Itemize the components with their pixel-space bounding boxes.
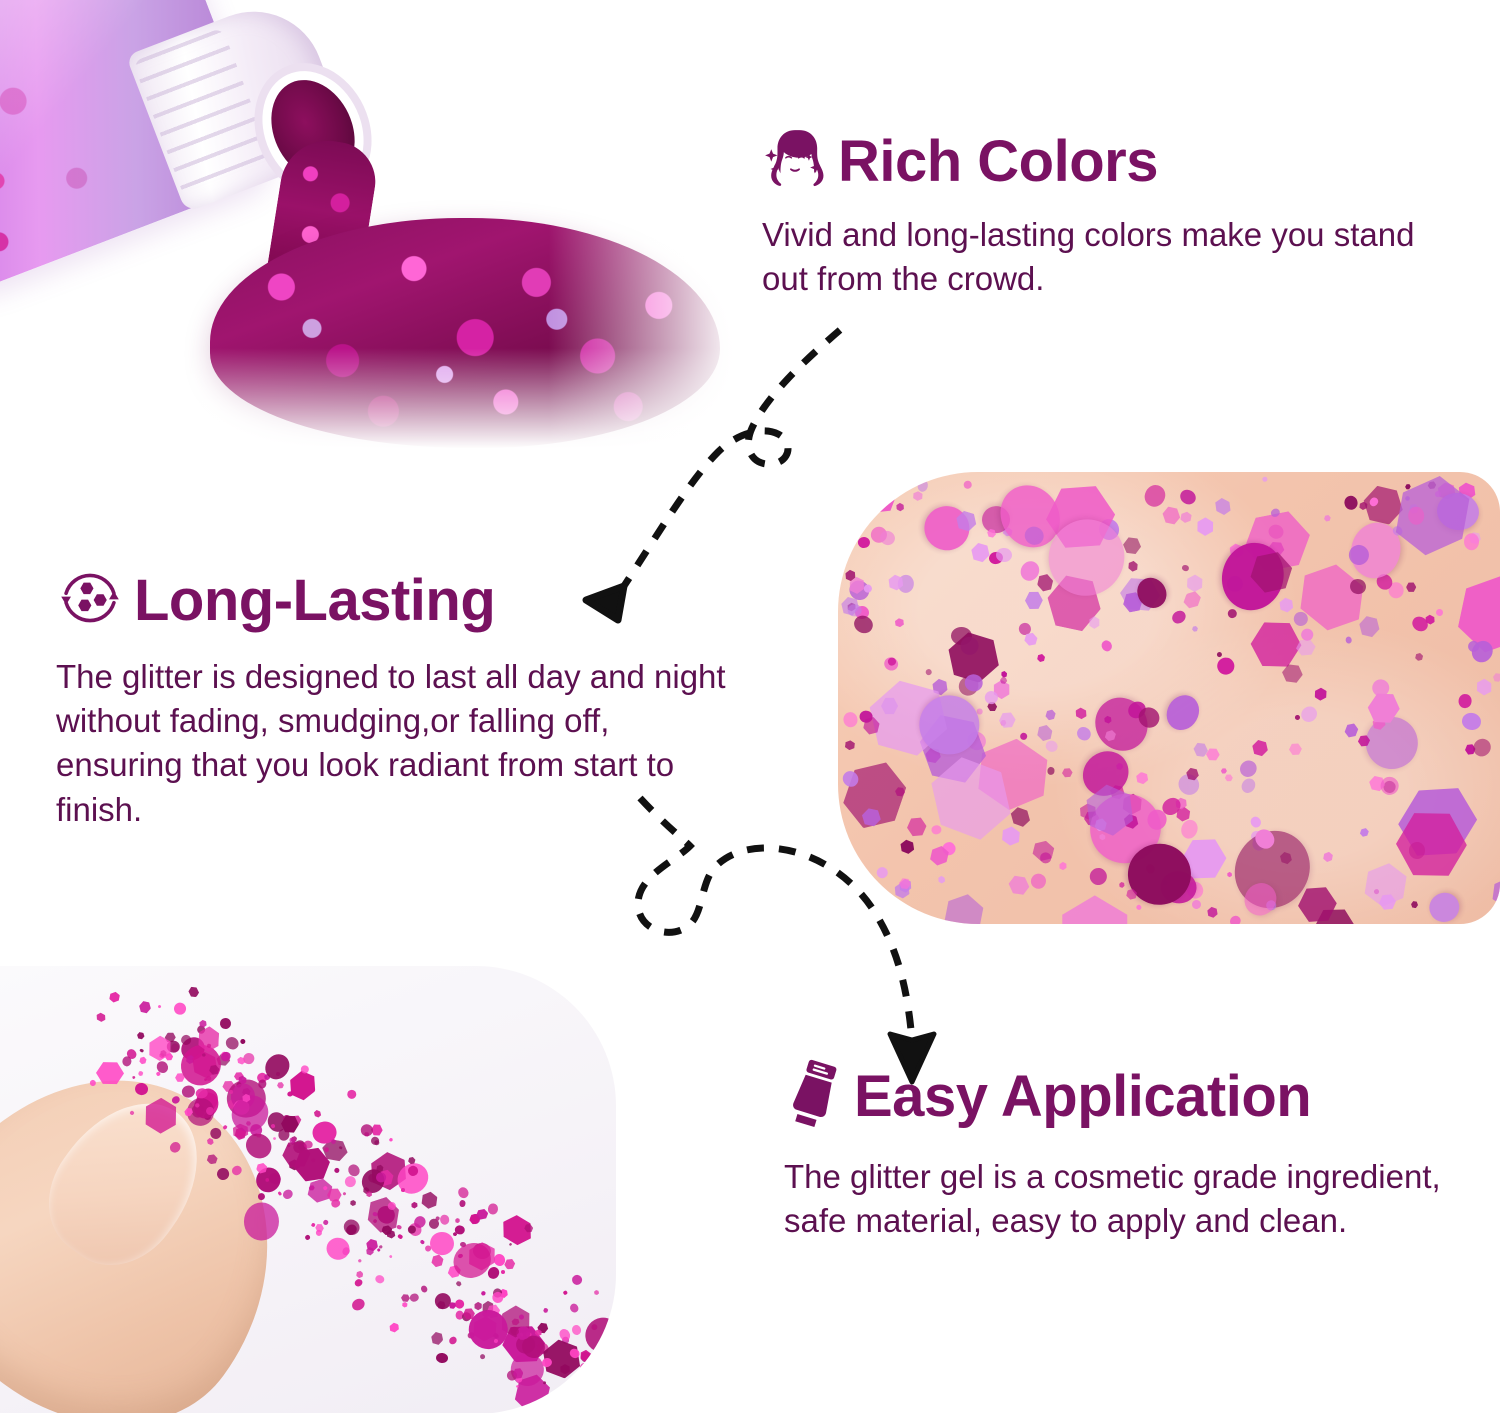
- glitter-flake: [488, 1203, 499, 1214]
- feature-rich-colors: Rich Colors Vivid and long-lasting color…: [762, 126, 1462, 301]
- glitter-flake: [1135, 771, 1149, 785]
- glitter-flake: [1239, 775, 1259, 795]
- glitter-flake: [912, 491, 923, 501]
- glitter-flake: [916, 479, 929, 493]
- glitter-flake: [402, 1302, 408, 1308]
- glitter-flake: [429, 1230, 456, 1256]
- glitter-flake: [1075, 724, 1094, 743]
- glitter-flake: [977, 709, 983, 715]
- glitter-flake: [313, 1109, 323, 1119]
- glitter-flake: [1180, 587, 1204, 611]
- glitter-flake: [584, 1392, 596, 1403]
- glitter-flake: [542, 1307, 548, 1314]
- glitter-flake: [304, 1234, 311, 1241]
- glitter-flake: [360, 1124, 373, 1137]
- glitter-flake: [1160, 504, 1182, 527]
- glitter-flake: [158, 1005, 162, 1009]
- glitter-flake: [311, 1222, 317, 1228]
- glitter-flake: [222, 1124, 228, 1130]
- feature-body-text: The glitter is designed to last all day …: [56, 655, 736, 832]
- glitter-flake: [1191, 899, 1201, 910]
- glitter-flake: [439, 1214, 450, 1225]
- glitter-flake: [300, 1064, 310, 1074]
- woman-face-sparkle-icon: [762, 126, 828, 197]
- glitter-flake: [134, 1082, 149, 1096]
- glitter-flake: [1100, 639, 1114, 654]
- glitter-flake: [229, 1090, 233, 1094]
- glitter-flake: [1458, 694, 1472, 710]
- glitter-flake: [1460, 712, 1483, 733]
- glitter-flake: [89, 1079, 97, 1087]
- feature-title: Rich Colors: [838, 133, 1158, 191]
- glitter-flake: [1019, 732, 1027, 740]
- glitter-flake: [1470, 735, 1495, 760]
- glitter-flake: [136, 1031, 145, 1040]
- glitter-flake: [894, 501, 905, 512]
- glitter-flake: [1126, 560, 1139, 574]
- glitter-flake: [436, 1352, 449, 1364]
- glitter-flake: [223, 1035, 241, 1053]
- glitter-flake: [509, 1242, 513, 1246]
- glitter-flake: [387, 1321, 401, 1335]
- glitter-flake: [1062, 767, 1073, 777]
- glitter-flake: [138, 1070, 144, 1077]
- feature-easy-application: Easy Application The glitter gel is a co…: [784, 1058, 1474, 1243]
- glitter-flake: [1261, 476, 1268, 483]
- infographic-page: Rich Colors Vivid and long-lasting color…: [0, 0, 1500, 1413]
- feature-body-text: The glitter gel is a cosmetic grade ingr…: [784, 1155, 1454, 1243]
- glitter-flake: [1359, 827, 1371, 839]
- glitter-flake: [215, 1166, 231, 1182]
- glitter-flake: [410, 1201, 419, 1210]
- cosmetic-tube-icon: [784, 1058, 844, 1135]
- glitter-flake: [350, 1199, 357, 1206]
- glitter-flake: [129, 1110, 135, 1116]
- glitter-flake: [1321, 849, 1335, 863]
- glitter-flake: [1226, 608, 1237, 619]
- glitter-flake: [1025, 591, 1043, 610]
- glitter-flake: [1492, 672, 1500, 682]
- glitter-flake: [140, 1049, 145, 1054]
- glitter-flake: [844, 740, 855, 751]
- glitter-flake: [357, 1259, 362, 1264]
- glitter-flake: [1425, 888, 1465, 924]
- glitter-flake: [1086, 864, 1109, 887]
- glitter-flake: [407, 1225, 416, 1234]
- glitter-flake: [1228, 914, 1243, 924]
- glitter-flake: [998, 822, 1025, 848]
- glitter-flake: [1357, 857, 1415, 913]
- glitter-flake: [1044, 739, 1059, 754]
- glitter-flake: [925, 669, 932, 677]
- glitter-flake: [96, 1061, 124, 1086]
- glitter-flake: [1161, 689, 1206, 736]
- glitter-flake: [1058, 895, 1130, 924]
- glitter-flake: [330, 1198, 341, 1208]
- glitter-flake: [374, 1274, 385, 1285]
- glitter-flake: [1206, 906, 1220, 920]
- glitter-flake: [420, 1239, 426, 1245]
- glitter-flake: [1216, 651, 1223, 658]
- glitter-flake: [448, 1335, 459, 1346]
- glitter-flake: [171, 1095, 181, 1105]
- glitter-flake: [108, 991, 122, 1004]
- feature-heading-row: Easy Application: [784, 1058, 1474, 1135]
- glitter-flake: [570, 1273, 584, 1287]
- glitter-flake: [1249, 816, 1263, 830]
- glitter-flake: [420, 1285, 429, 1294]
- photo-finger-smear: [0, 966, 616, 1413]
- glitter-flake: [1177, 487, 1198, 507]
- feature-body-text: Vivid and long-lasting colors make you s…: [762, 213, 1452, 301]
- glitter-flake: [323, 1219, 330, 1226]
- glitter-flake: [273, 1137, 276, 1140]
- glitter-flake: [181, 1085, 196, 1099]
- glitter-flake: [418, 1189, 440, 1211]
- glitter-flake: [239, 1038, 246, 1045]
- glitter-flake: [276, 1080, 285, 1090]
- glitter-flake: [1226, 871, 1233, 878]
- glitter-flake: [1357, 613, 1382, 639]
- glitter-flake: [187, 985, 201, 1000]
- glitter-flake: [281, 1188, 294, 1201]
- glitter-flake: [1342, 721, 1359, 740]
- glitter-flake: [1414, 652, 1424, 662]
- glitter-flake: [409, 1292, 420, 1303]
- glitter-flake: [579, 1361, 591, 1372]
- glitter-flake: [1236, 757, 1260, 781]
- glitter-flake: [1474, 676, 1496, 698]
- glitter-flake: [1435, 608, 1443, 616]
- glitter-flake: [430, 1330, 445, 1346]
- cycle-hexagons-icon: [56, 564, 124, 637]
- feature-title: Easy Application: [854, 1068, 1311, 1126]
- glitter-flake: [606, 1370, 616, 1413]
- glitter-flake: [571, 1324, 582, 1336]
- glitter-flake: [479, 1353, 486, 1360]
- glitter-flake: [1046, 767, 1054, 775]
- glitter-flake: [1406, 582, 1416, 593]
- glitter-flake: [138, 1000, 152, 1015]
- glitter-flake: [563, 1290, 569, 1295]
- glitter-flake: [1118, 882, 1125, 889]
- glitter-flake: [257, 1192, 265, 1200]
- glitter-flake: [94, 1011, 107, 1023]
- glitter-flake: [1141, 482, 1169, 511]
- glitter-flake: [205, 1153, 218, 1166]
- glitter-flake: [168, 1140, 183, 1155]
- glitter-flake: [1044, 708, 1057, 722]
- glitter-flake: [1211, 495, 1234, 518]
- glitter-flake: [1486, 873, 1500, 913]
- glitter-flake: [1004, 871, 1032, 899]
- glitter-flake: [1191, 625, 1198, 632]
- glitter-flake: [1323, 514, 1331, 522]
- glitter-flake: [324, 1235, 351, 1262]
- glitter-flake: [1312, 685, 1330, 702]
- glitter-flake: [304, 1140, 313, 1148]
- glitter-flake: [1036, 653, 1046, 663]
- glitter-flake: [1298, 704, 1320, 726]
- glitter-flake: [1224, 773, 1234, 783]
- glitter-flake: [998, 711, 1016, 728]
- feature-heading-row: Long-Lasting: [56, 564, 746, 637]
- glitter-flake: [459, 1199, 466, 1207]
- glitter-flake: [139, 1056, 148, 1065]
- glitter-flake: [131, 1075, 135, 1079]
- glitter-flake: [1411, 901, 1419, 909]
- glitter-flake: [1214, 655, 1237, 678]
- glitter-flake: [244, 1201, 279, 1240]
- glitter-flake: [1205, 748, 1219, 761]
- glitter-flake: [1220, 767, 1228, 775]
- glitter-smear-layer: [0, 966, 616, 1413]
- glitter-flake: [370, 1136, 381, 1147]
- glitter-flake: [353, 1278, 364, 1289]
- glitter-flake: [1170, 608, 1189, 626]
- feature-title: Long-Lasting: [134, 572, 495, 630]
- glitter-flake: [389, 1137, 394, 1142]
- glitter-flake: [842, 711, 858, 728]
- glitter-flake: [350, 1296, 367, 1312]
- glitter-flake: [1464, 533, 1480, 550]
- glitter-flake: [501, 1270, 505, 1274]
- glitter-flake: [396, 1224, 402, 1230]
- glitter-flake: [219, 1016, 233, 1029]
- glitter-flake: [1030, 838, 1056, 863]
- glitter-flake: [996, 548, 1012, 563]
- glitter-flake: [1191, 740, 1210, 760]
- glitter-flake: [1028, 871, 1049, 892]
- glitter-flake: [455, 1279, 463, 1287]
- glitter-flake: [230, 1164, 243, 1177]
- glitter-flake: [568, 1302, 579, 1314]
- glitter-flake: [894, 618, 905, 628]
- glitter-flake: [1135, 904, 1142, 911]
- feature-heading-row: Rich Colors: [762, 126, 1462, 197]
- glitter-flake: [1196, 517, 1214, 536]
- feature-long-lasting: Long-Lasting The glitter is designed to …: [56, 564, 746, 832]
- glitter-flake: [1179, 510, 1194, 524]
- glitter-flake: [454, 1217, 460, 1223]
- glitter-flake: [1181, 564, 1189, 571]
- glitter-flake: [1250, 738, 1270, 758]
- glitter-flake: [333, 1168, 340, 1174]
- glitter-flake: [1073, 706, 1089, 721]
- arrow-long-to-easy-icon: [600, 790, 960, 1090]
- glitter-flake: [457, 1185, 471, 1199]
- glitter-flake: [397, 1233, 403, 1239]
- glitter-flake: [122, 1056, 132, 1067]
- glitter-flake: [1277, 596, 1296, 615]
- glitter-flake: [1345, 636, 1352, 644]
- glitter-flake: [594, 1289, 600, 1295]
- glitter-flake: [963, 481, 973, 490]
- glitter-flake: [347, 1090, 356, 1099]
- glitter-flake: [430, 1253, 445, 1269]
- glitter-flake: [480, 1290, 487, 1297]
- glitter-flake: [1183, 572, 1206, 595]
- glitter-flake: [388, 1254, 392, 1258]
- glitter-flake: [172, 1001, 187, 1016]
- glitter-flake: [1057, 860, 1068, 871]
- glitter-flake: [342, 1191, 347, 1196]
- glitter-flake: [1343, 494, 1359, 510]
- glitter-flake: [1287, 741, 1304, 758]
